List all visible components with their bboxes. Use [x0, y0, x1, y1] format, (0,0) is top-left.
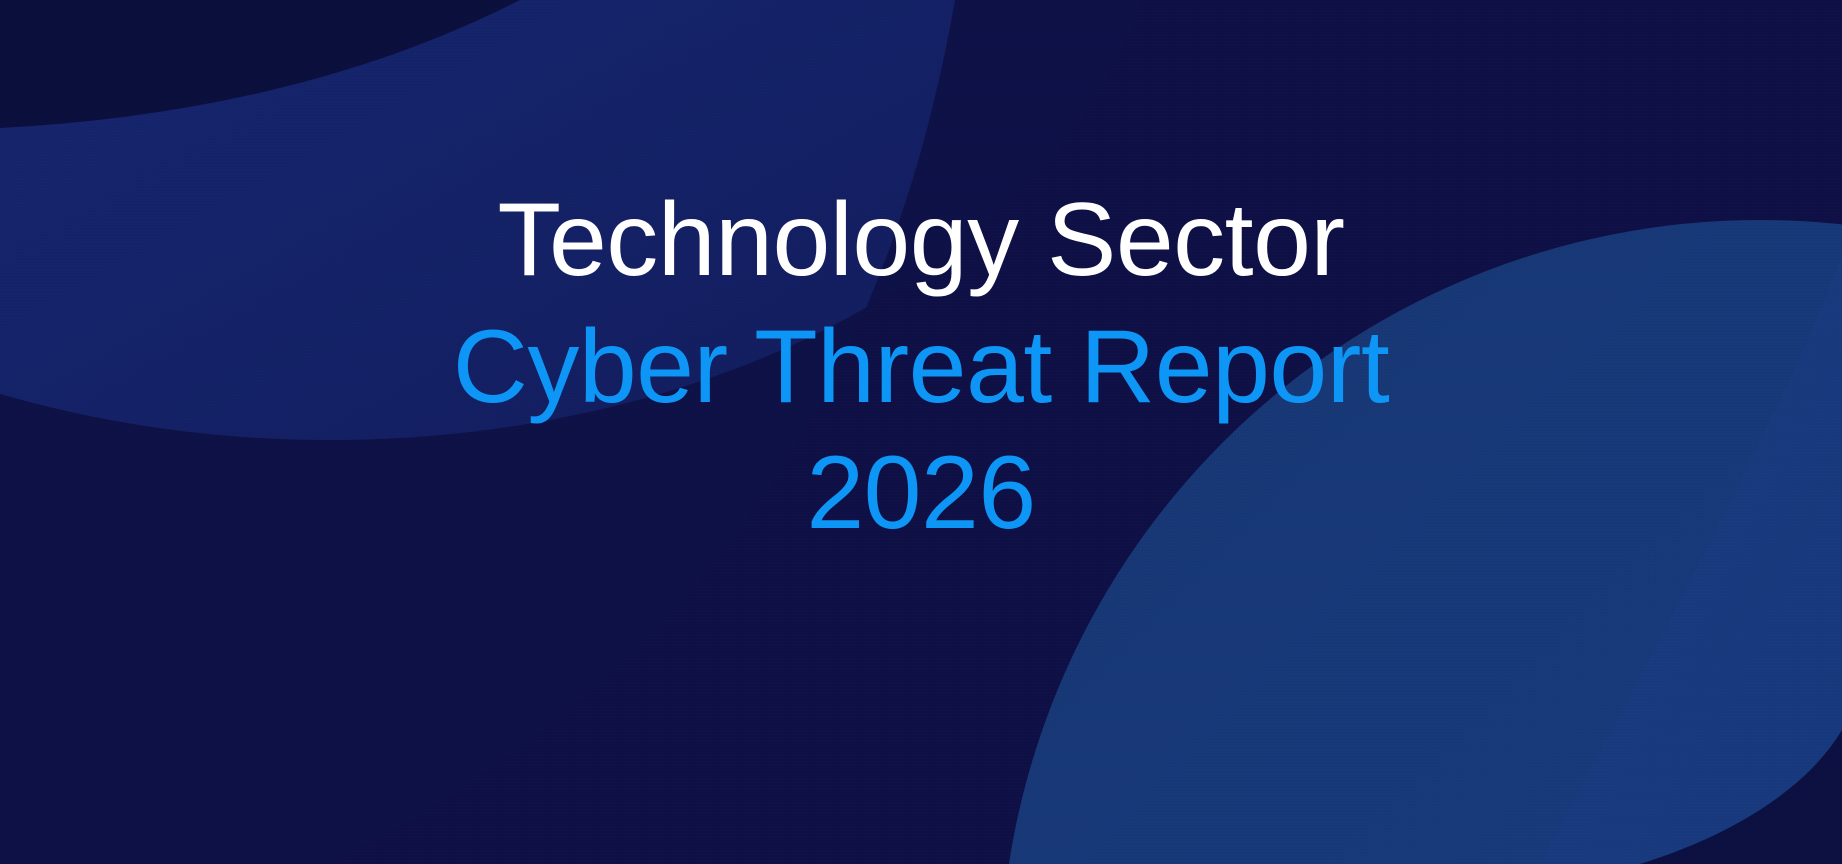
title-line-primary: Technology Sector — [497, 177, 1344, 304]
title-slide: Technology Sector Cyber Threat Report 20… — [0, 0, 1842, 864]
title-line-year: 2026 — [806, 430, 1035, 557]
page-title: Technology Sector Cyber Threat Report 20… — [0, 0, 1842, 864]
title-line-secondary: Cyber Threat Report — [453, 304, 1390, 431]
